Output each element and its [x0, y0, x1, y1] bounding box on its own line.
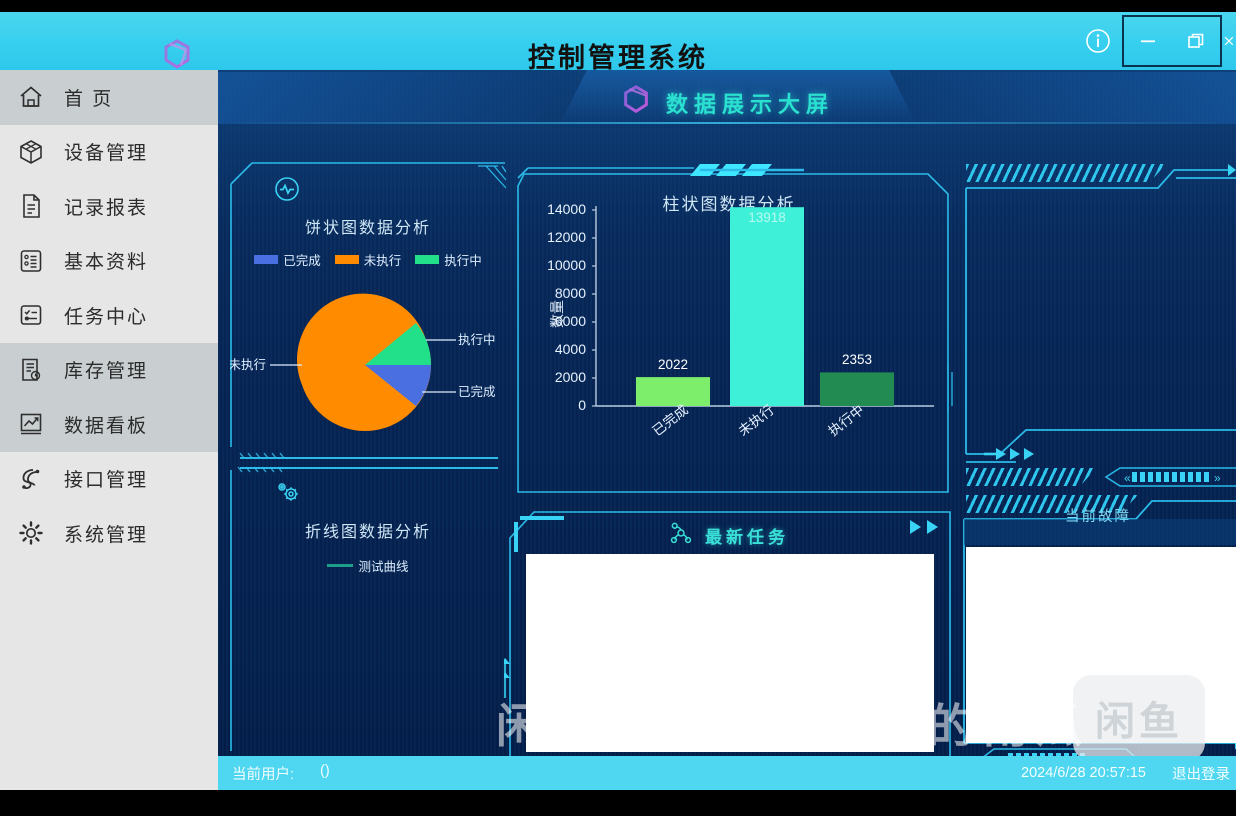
sidebar-item-data-board[interactable]: 数据看板 — [0, 397, 218, 452]
pulse-circle-icon — [274, 176, 300, 202]
y-tick: 10000 — [547, 257, 586, 273]
sidebar: 首 页 设备管理 记录报表 基本资料 任务中心 — [0, 70, 218, 816]
info-button[interactable] — [1074, 12, 1122, 70]
bar-chart-panel: 柱状图数据分析 14000 12000 10000 8000 6000 4000… — [504, 162, 954, 502]
sidebar-item-label: 基本资料 — [64, 247, 148, 274]
legend-item-running[interactable]: 执行中 — [415, 250, 482, 269]
y-axis-label: 数量 — [549, 300, 565, 328]
svg-text:«: « — [1124, 471, 1131, 485]
title-bar: 控制管理系统 — [0, 12, 1236, 70]
dashboard-main: 数据展示大屏 饼状图数据分析 — [218, 70, 1236, 816]
sidebar-item-interface-management[interactable]: 接口管理 — [0, 452, 218, 507]
pie-chart-legend: 已完成 未执行 执行中 — [230, 250, 506, 269]
inventory-icon — [16, 355, 46, 385]
bar-done — [636, 377, 710, 406]
legend-swatch-done — [254, 255, 278, 264]
legend-item-pending[interactable]: 未执行 — [335, 250, 402, 269]
current-fault-panel: 当前故障 — [960, 493, 1236, 778]
y-tick: 2000 — [555, 369, 586, 385]
current-user-value: () — [320, 763, 330, 784]
dashboard-banner: 数据展示大屏 — [218, 70, 1236, 132]
right-top-panel: « » — [960, 162, 1236, 487]
status-bar: 当前用户: () 2024/6/28 20:57:15 退出登录 — [218, 756, 1236, 790]
sidebar-bottom-filler — [0, 756, 218, 790]
banner-underline — [226, 122, 1226, 124]
bar-label-running: 2353 — [842, 352, 872, 367]
legend-swatch-running — [415, 255, 439, 264]
screen-bottom-bezel — [0, 790, 1236, 816]
sidebar-item-label: 接口管理 — [64, 465, 148, 492]
gears-icon — [274, 480, 300, 506]
pie-label-pending: 未执行 — [230, 358, 266, 372]
status-timestamp: 2024/6/28 20:57:15 — [1021, 765, 1146, 781]
sidebar-item-label: 首 页 — [64, 84, 113, 111]
sidebar-item-basic-info[interactable]: 基本资料 — [0, 234, 218, 289]
line-chart-legend: 测试曲线 — [230, 556, 506, 575]
restore-button[interactable] — [1172, 12, 1220, 70]
window-controls — [1074, 12, 1236, 70]
bar-running — [820, 372, 894, 406]
arrow-right-icon — [910, 520, 921, 534]
sidebar-item-home[interactable]: 首 页 — [0, 70, 218, 125]
x-tick-running: 执行中 — [826, 402, 867, 439]
y-tick: 12000 — [547, 229, 586, 245]
document-icon — [16, 191, 46, 221]
y-tick: 0 — [578, 397, 586, 413]
legend-swatch-test-curve — [327, 564, 353, 567]
legend-label: 已完成 — [283, 250, 321, 269]
legend-item-test-curve[interactable]: 测试曲线 — [327, 556, 408, 575]
bar-label-pending: 13918 — [748, 210, 786, 225]
latest-task-content[interactable] — [526, 554, 934, 752]
banner-title: 数据展示大屏 — [666, 87, 834, 119]
line-chart-panel: 折线图数据分析 测试曲线 — [230, 466, 506, 766]
sidebar-item-label: 记录报表 — [64, 193, 148, 220]
close-button[interactable] — [1222, 12, 1236, 70]
svg-text:»: » — [1214, 471, 1221, 485]
sidebar-item-label: 库存管理 — [64, 356, 148, 383]
pie-chart-graphic: 未执行 执行中 已完成 — [230, 270, 506, 460]
sidebar-item-label: 任务中心 — [64, 302, 148, 329]
profile-list-icon — [16, 246, 46, 276]
bar-chart-graphic: 14000 12000 10000 8000 6000 4000 2000 0 … — [504, 184, 954, 484]
legend-label: 未执行 — [364, 250, 402, 269]
current-user-label: 当前用户: — [232, 763, 294, 784]
interface-icon — [16, 464, 46, 494]
sidebar-item-task-center[interactable]: 任务中心 — [0, 288, 218, 343]
sidebar-item-label: 数据看板 — [64, 411, 148, 438]
bar-pending — [730, 207, 804, 406]
pie-label-running: 执行中 — [458, 332, 496, 347]
line-chart-graphic — [230, 586, 506, 746]
sidebar-item-record-report[interactable]: 记录报表 — [0, 179, 218, 234]
legend-label: 执行中 — [444, 250, 482, 269]
arrow-right-icon — [927, 520, 938, 534]
latest-task-panel: 最新任务 — [504, 508, 954, 778]
hexagon-logo-icon — [620, 84, 652, 121]
pie-chart-panel: 饼状图数据分析 已完成 未执行 执行中 — [230, 162, 506, 462]
y-tick: 8000 — [555, 285, 586, 301]
sidebar-item-label: 设备管理 — [64, 138, 148, 165]
sidebar-item-device-management[interactable]: 设备管理 — [0, 125, 218, 180]
latest-task-header: 最新任务 — [518, 518, 940, 552]
x-tick-done: 已完成 — [650, 402, 691, 439]
line-chart-title: 折线图数据分析 — [230, 518, 506, 542]
y-tick: 4000 — [555, 341, 586, 357]
bar-label-done: 2022 — [658, 357, 688, 372]
latest-task-title: 最新任务 — [705, 523, 789, 548]
sidebar-item-inventory-management[interactable]: 库存管理 — [0, 343, 218, 398]
legend-swatch-pending — [335, 255, 359, 264]
application-window: 控制管理系统 首 页 — [0, 0, 1236, 816]
logout-button[interactable]: 退出登录 — [1172, 763, 1230, 784]
x-tick-pending: 未执行 — [736, 402, 777, 439]
box-icon — [16, 137, 46, 167]
minimize-button[interactable] — [1124, 12, 1172, 70]
legend-item-done[interactable]: 已完成 — [254, 250, 321, 269]
biohazard-icon — [669, 521, 693, 550]
sidebar-item-system-management[interactable]: 系统管理 — [0, 506, 218, 561]
pie-chart-title: 饼状图数据分析 — [230, 214, 506, 238]
legend-label: 测试曲线 — [358, 556, 408, 575]
current-fault-content[interactable] — [966, 547, 1236, 743]
panel-hatch-decoration-bottom — [966, 468, 1096, 486]
task-next-arrows[interactable] — [910, 520, 938, 534]
pie-label-done: 已完成 — [458, 384, 496, 399]
task-list-icon — [16, 300, 46, 330]
gear-icon — [16, 518, 46, 548]
y-tick: 14000 — [547, 201, 586, 217]
current-fault-title: 当前故障 — [960, 505, 1236, 526]
chart-board-icon — [16, 409, 46, 439]
home-icon — [16, 82, 46, 112]
progress-bar-decoration: « » — [1102, 466, 1236, 488]
sidebar-item-label: 系统管理 — [64, 520, 148, 547]
